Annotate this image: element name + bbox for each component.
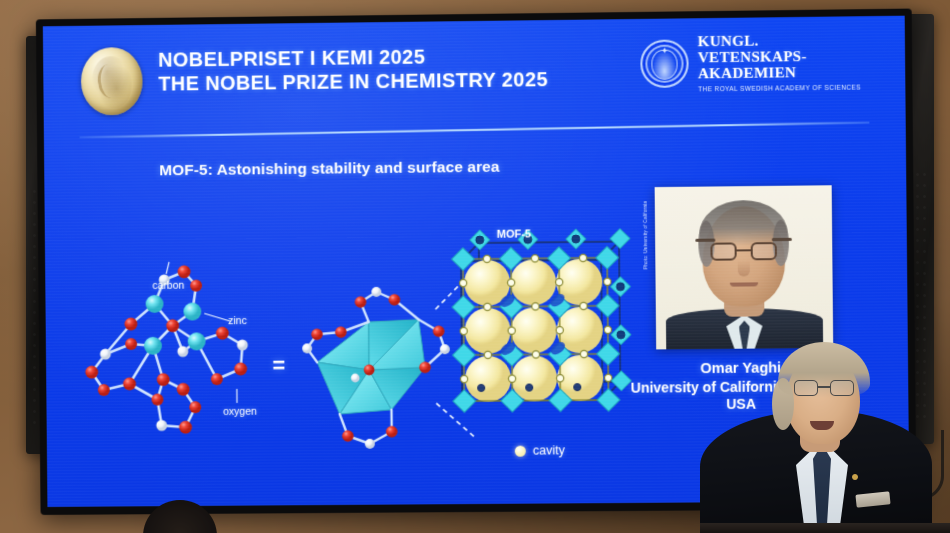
- atom-carbon: [156, 420, 167, 431]
- atom-oxygen: [178, 265, 191, 278]
- atom-oxygen: [166, 319, 179, 332]
- cavity-legend: cavity: [515, 443, 565, 457]
- atom-oxygen: [151, 394, 163, 406]
- portrait-brow-left: [695, 239, 715, 242]
- atom-oxygen: [124, 318, 137, 331]
- academy-name-line-2: VETENSKAPS-: [698, 49, 861, 67]
- atom-oxygen: [98, 384, 110, 396]
- laureate-affiliation: University of California, Berkeley: [600, 378, 882, 396]
- atom-oxygen: [216, 327, 229, 340]
- seal-emblem: [652, 50, 678, 80]
- zn4o-polyhedron: [302, 286, 451, 449]
- slide-screen: NOBELPRISET I KEMI 2025 THE NOBEL PRIZE …: [43, 16, 910, 507]
- atom-carbon: [177, 346, 188, 357]
- portrait-nose: [738, 260, 750, 276]
- royal-academy-seal-icon: ✦: [640, 40, 689, 89]
- academy-name-line-1: KUNGL.: [698, 32, 861, 50]
- atom-oxygen: [123, 377, 136, 390]
- atom-oxygen: [211, 373, 223, 385]
- mof5-diagram-svg: [44, 189, 685, 494]
- figure-label-zinc: zinc: [228, 315, 247, 327]
- atom-oxygen: [190, 280, 202, 292]
- atom-zinc: [146, 295, 164, 313]
- laureate-country: USA: [600, 395, 882, 413]
- atom-oxygen: [179, 421, 192, 434]
- glasses-bridge: [737, 249, 751, 251]
- atom-oxygen: [234, 362, 247, 375]
- nobel-profile-relief: [92, 56, 132, 108]
- atom-zinc: [144, 337, 162, 355]
- equals-sign: =: [272, 353, 285, 379]
- glasses-lens-left: [710, 242, 736, 260]
- photo-credit: Photo: University of California: [643, 201, 649, 269]
- laureate-panel: Photo: University of California Omar Yag…: [598, 185, 882, 413]
- academy-logo: ✦ KUNGL. VETENSKAPS- AKADEMIEN THE ROYAL…: [640, 32, 861, 93]
- laureate-caption: Omar Yaghi University of California, Ber…: [600, 360, 882, 413]
- glasses-lens-right: [751, 242, 777, 260]
- cavity-legend-label: cavity: [533, 443, 565, 457]
- figure-label-carbon: carbon: [152, 280, 184, 292]
- figure-label-oxygen: oxygen: [223, 406, 257, 418]
- slide-title: NOBELPRISET I KEMI 2025 THE NOBEL PRIZE …: [158, 44, 548, 97]
- cavity-spheres: [464, 259, 604, 402]
- title-line-english: THE NOBEL PRIZE IN CHEMISTRY 2025: [158, 69, 548, 98]
- presentation-display: NOBELPRISET I KEMI 2025 THE NOBEL PRIZE …: [36, 9, 917, 515]
- zn4o-cluster-ball-stick: [91, 271, 243, 428]
- atom-oxygen: [157, 373, 170, 386]
- nobel-medal-icon: [81, 47, 143, 115]
- portrait-mouth: [730, 282, 758, 286]
- atom-oxygen: [189, 401, 201, 413]
- atom-carbon: [100, 349, 111, 360]
- atom-zinc: [188, 332, 206, 350]
- academy-name-line-3: AKADEMIEN: [698, 65, 861, 83]
- slide-header: NOBELPRISET I KEMI 2025 THE NOBEL PRIZE …: [43, 26, 906, 128]
- cavity-dot-icon: [515, 445, 526, 456]
- academy-subtitle: THE ROYAL SWEDISH ACADEMY OF SCIENCES: [698, 84, 861, 93]
- portrait-glasses-icon: [710, 242, 777, 261]
- figure-label-mof5: MOF-5: [497, 228, 531, 240]
- mof5-figure: carbon zinc oxygen MOF-5 = cavity: [44, 189, 685, 494]
- laureate-portrait: [655, 185, 834, 349]
- atom-oxygen: [125, 338, 137, 350]
- atom-carbon: [237, 339, 248, 350]
- speaker-cable: [918, 430, 944, 500]
- atom-oxygen: [177, 383, 190, 396]
- slide-heading: MOF-5: Astonishing stability and surface…: [159, 159, 500, 181]
- atom-oxygen: [85, 366, 98, 379]
- portrait-brow-right: [772, 238, 792, 241]
- laureate-name: Omar Yaghi: [600, 360, 882, 378]
- academy-wordmark: KUNGL. VETENSKAPS- AKADEMIEN THE ROYAL S…: [698, 32, 861, 93]
- atom-zinc: [183, 303, 201, 321]
- press-conference-scene: NOBELPRISET I KEMI 2025 THE NOBEL PRIZE …: [0, 0, 950, 533]
- podium-edge: [700, 523, 950, 533]
